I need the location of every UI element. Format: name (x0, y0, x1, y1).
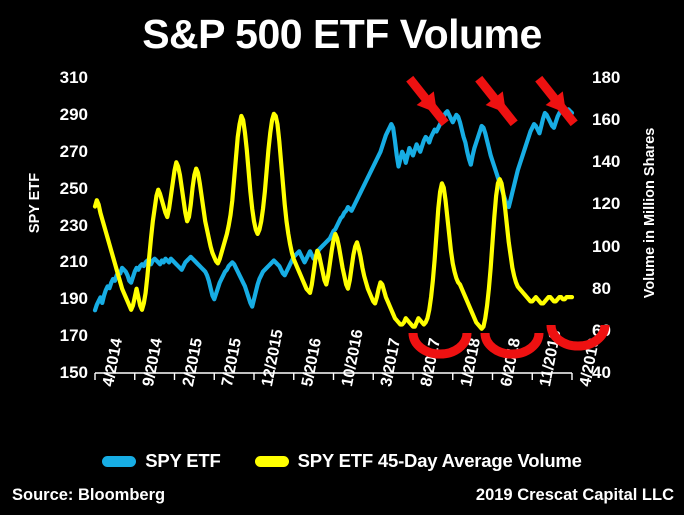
chart-page: S&P 500 ETF Volume SPY ETF Volume in Mil… (0, 0, 684, 515)
legend-item[interactable]: SPY ETF (102, 450, 220, 472)
legend-item-label: SPY ETF (145, 450, 220, 472)
volume-trough-arc-3 (551, 325, 605, 346)
legend-swatch-icon (102, 456, 136, 467)
series-line-volume (95, 114, 572, 329)
legend: SPY ETFSPY ETF 45-Day Average Volume (0, 450, 684, 472)
footer-source: Source: Bloomberg (12, 486, 165, 505)
legend-item[interactable]: SPY ETF 45-Day Average Volume (255, 450, 582, 472)
legend-item-label: SPY ETF 45-Day Average Volume (298, 450, 582, 472)
volume-trough-arc-2 (485, 333, 539, 354)
peak-arrow-2 (479, 79, 514, 124)
footer: Source: Bloomberg 2019 Crescat Capital L… (0, 486, 684, 510)
legend-swatch-icon (255, 456, 289, 467)
volume-trough-arc-1 (413, 333, 467, 354)
peak-arrow-1 (410, 79, 445, 124)
plot-area (0, 0, 684, 515)
axis-lines (95, 373, 572, 380)
footer-copyright: 2019 Crescat Capital LLC (476, 486, 674, 505)
series-lines (95, 109, 572, 328)
